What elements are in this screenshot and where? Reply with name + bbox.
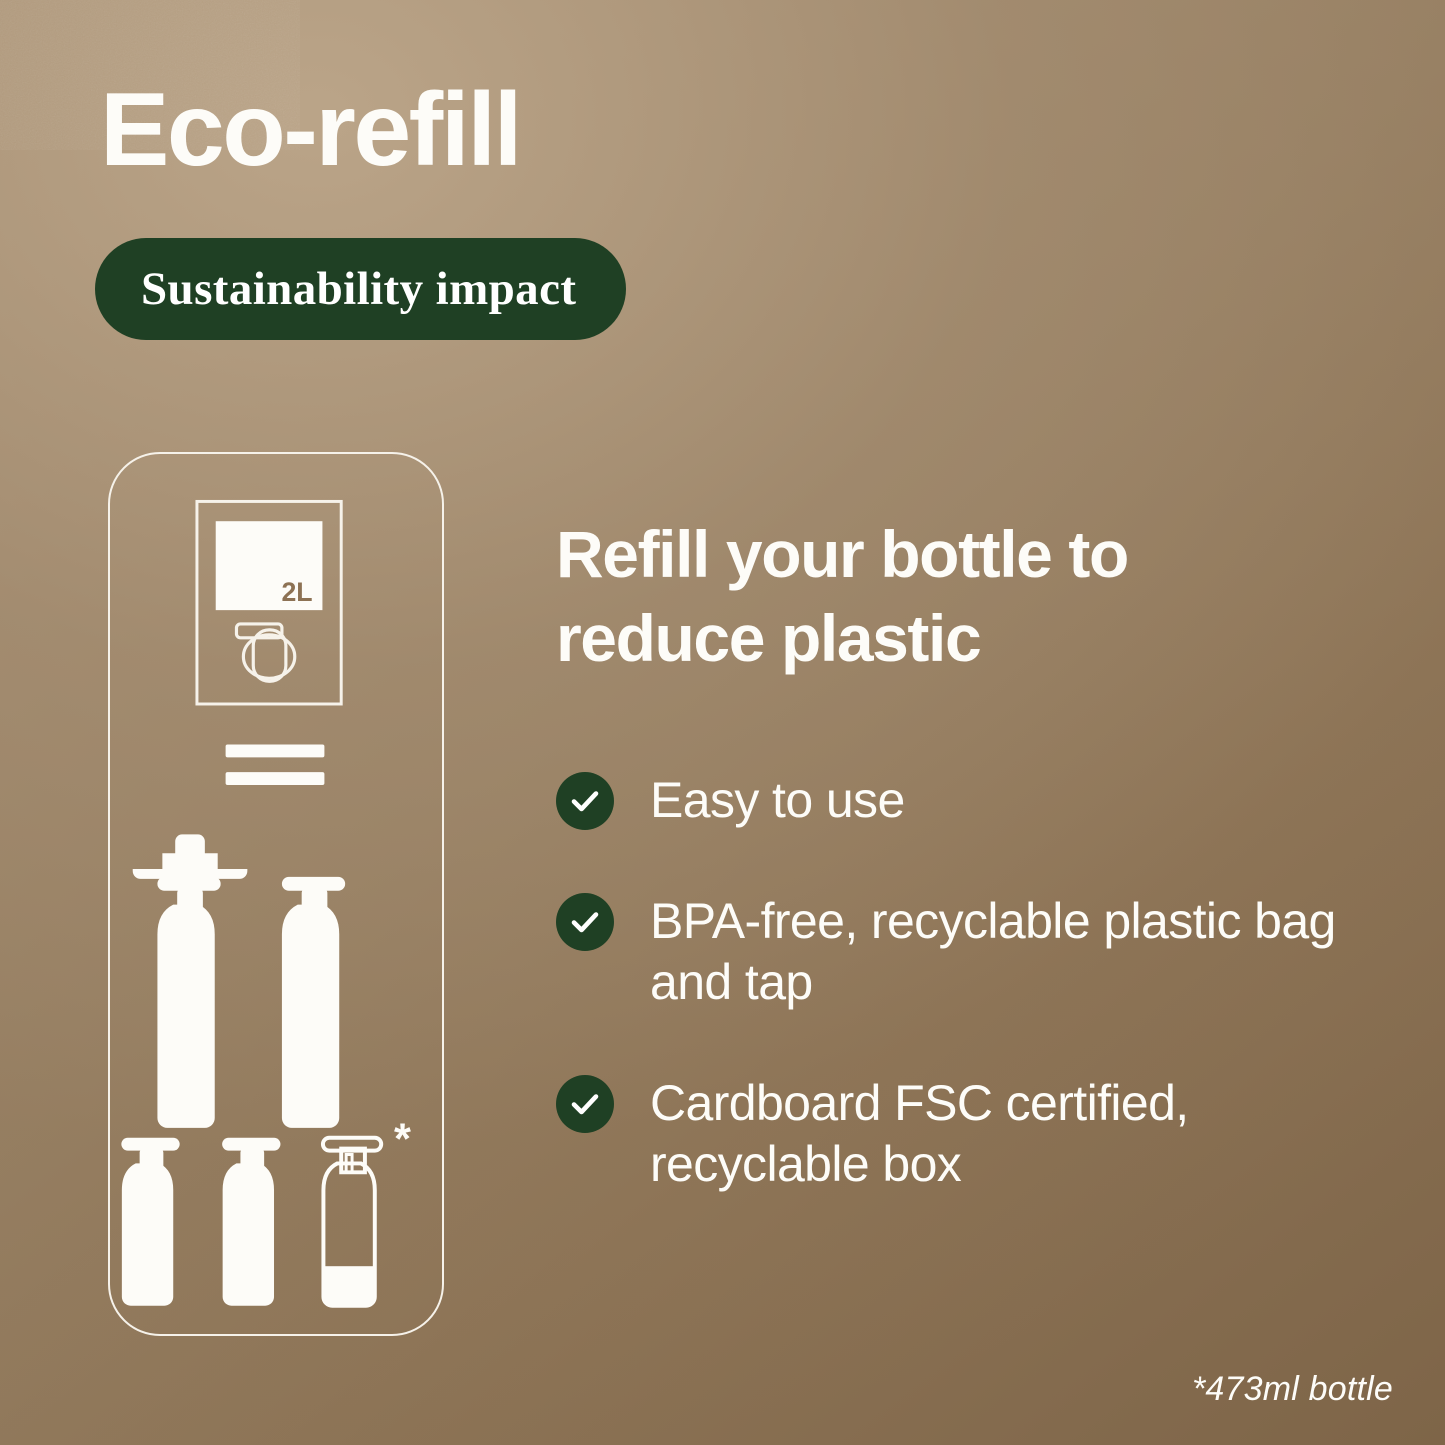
benefit-label: Easy to use xyxy=(650,770,905,831)
badge-label: Sustainability impact xyxy=(141,262,576,316)
main-headline: Refill your bottle to reduce plastic xyxy=(556,512,1276,681)
pump-bottle xyxy=(282,877,345,1128)
box-volume-label: 2L xyxy=(281,577,312,607)
check-icon xyxy=(556,893,614,951)
equals-symbol xyxy=(226,745,325,786)
refill-box-icon: 2L xyxy=(197,501,341,704)
sustainability-impact-badge: Sustainability impact xyxy=(95,238,626,340)
pump-bottle xyxy=(133,834,248,1127)
page-title: Eco-refill xyxy=(100,78,520,182)
list-item: Easy to use xyxy=(556,770,1366,831)
pump-bottle xyxy=(121,1138,179,1306)
benefits-list: Easy to use BPA-free, recyclable plastic… xyxy=(556,770,1366,1255)
refill-equivalence-illustration: 2L xyxy=(110,454,442,1327)
footnote: *473ml bottle xyxy=(1192,1370,1393,1409)
asterisk-marker: * xyxy=(394,1116,411,1164)
benefit-label: Cardboard FSC certified, recyclable box xyxy=(650,1073,1366,1195)
list-item: BPA-free, recyclable plastic bag and tap xyxy=(556,891,1366,1013)
bottle-row-bottom: * xyxy=(121,1116,411,1311)
benefit-label: BPA-free, recyclable plastic bag and tap xyxy=(650,891,1366,1013)
illustration-panel: 2L xyxy=(108,452,444,1336)
list-item: Cardboard FSC certified, recyclable box xyxy=(556,1073,1366,1195)
check-icon xyxy=(556,772,614,830)
tap-spigot-icon xyxy=(236,624,294,681)
pump-bottle-partial xyxy=(317,1138,396,1311)
eco-refill-poster: Eco-refill Sustainability impact 2L xyxy=(0,0,1445,1445)
bottle-row-top xyxy=(133,834,345,1127)
check-icon xyxy=(556,1075,614,1133)
pump-bottle xyxy=(222,1138,280,1306)
